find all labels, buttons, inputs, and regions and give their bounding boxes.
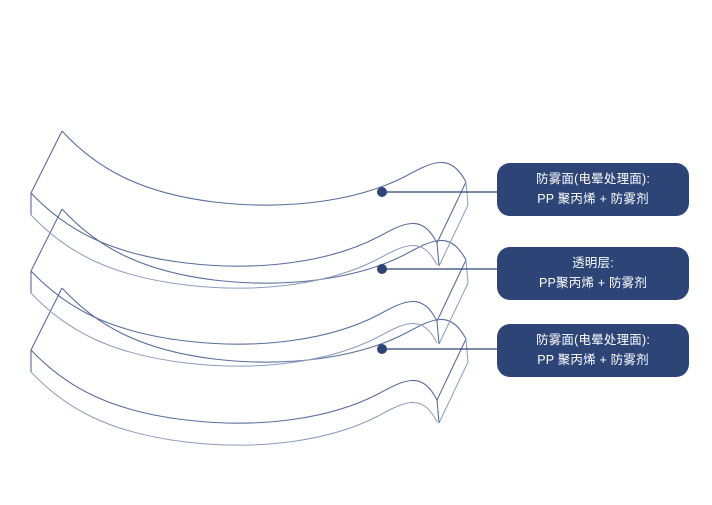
layer-label-anti-fog-top: 防雾面(电晕处理面): PP 聚丙烯 + 防雾剂 (497, 163, 689, 216)
layer-label-line-1: 防雾面(电晕处理面): (536, 170, 650, 189)
leader-1 (377, 187, 498, 197)
leader-dot-1 (377, 187, 387, 197)
layer-label-line-2: PP 聚丙烯 + 防雾剂 (537, 351, 649, 370)
layer-label-anti-fog-bottom: 防雾面(电晕处理面): PP 聚丙烯 + 防雾剂 (497, 324, 689, 377)
leader-dot-2 (377, 264, 387, 274)
diagram-canvas: 防雾面(电晕处理面): PP 聚丙烯 + 防雾剂 透明层: PP聚丙烯 + 防雾… (0, 0, 712, 505)
layer-label-line-2: PP 聚丙烯 + 防雾剂 (537, 190, 649, 209)
sheet-layer-bottom (31, 288, 468, 445)
layer-label-line-1: 透明层: (572, 254, 614, 273)
layer-label-transparent-core: 透明层: PP聚丙烯 + 防雾剂 (497, 247, 689, 300)
leader-dot-3 (377, 344, 387, 354)
sheet-layer-top (31, 131, 468, 288)
leader-3 (377, 344, 498, 354)
layer-label-line-1: 防雾面(电晕处理面): (536, 331, 650, 350)
leader-2 (377, 264, 498, 274)
layer-label-line-2: PP聚丙烯 + 防雾剂 (539, 274, 647, 293)
